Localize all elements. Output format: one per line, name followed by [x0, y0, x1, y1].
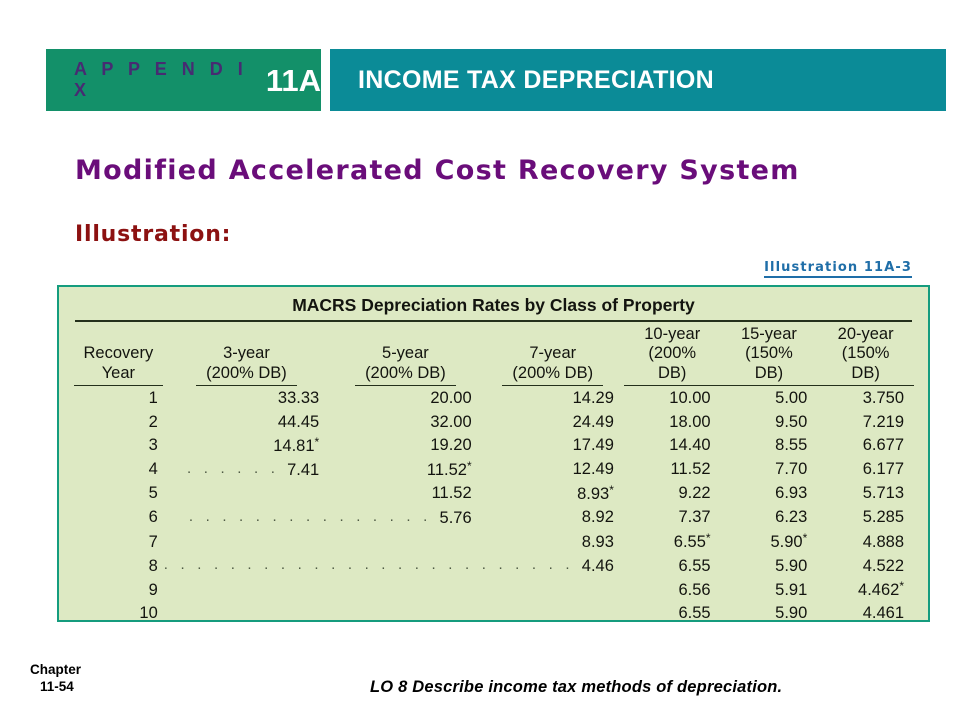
- cell-y20: 7.219: [817, 411, 914, 434]
- header-banner: A P P E N D I X 11A INCOME TAX DEPRECIAT…: [46, 49, 946, 111]
- cell-y3: 44.45: [164, 411, 329, 434]
- cell-y3: 14.81*: [164, 434, 329, 458]
- header-line1: 5-year: [382, 344, 429, 362]
- cell-y10: 14.40: [624, 434, 721, 458]
- cell-y7: 12.49: [482, 458, 624, 482]
- table-header-row: Recovery Year 3-year (200% DB) 5-year (2…: [73, 325, 914, 387]
- header-line2: (200% DB): [512, 364, 593, 382]
- cell-recovery-year: 3: [73, 434, 164, 458]
- column-header-15-year: 15-year (150% DB): [721, 325, 818, 387]
- cell-y5: 32.00: [329, 411, 481, 434]
- column-header-7-year: 7-year (200% DB): [482, 325, 624, 387]
- footnote-star: *: [467, 459, 472, 473]
- cell-y10: 6.56: [624, 578, 721, 602]
- banner-title-block: INCOME TAX DEPRECIATION: [330, 49, 946, 111]
- chapter-number: 11-54: [40, 679, 81, 696]
- cell-y10: 11.52: [624, 458, 721, 482]
- cell-y15: 5.90: [721, 554, 818, 578]
- cell-y7: 14.29: [482, 387, 624, 410]
- cell-y20: 6.177: [817, 458, 914, 482]
- leader-dots: . . . . . . . . . . . . . . . . . . . . …: [164, 555, 574, 574]
- illustration-label: Illustration 11A-3: [764, 260, 912, 278]
- page-title: Modified Accelerated Cost Recovery Syste…: [75, 155, 800, 186]
- column-header-3-year: 3-year (200% DB): [164, 325, 329, 387]
- header-line1: Recovery: [84, 344, 154, 362]
- footnote-star: *: [315, 435, 320, 449]
- column-header-10-year: 10-year (200% DB): [624, 325, 721, 387]
- cell-y10: 6.55: [624, 554, 721, 578]
- cell-leader-y5: . . . . . . . . . . . . . . .5.76: [164, 506, 482, 530]
- macrs-rates-table: Recovery Year 3-year (200% DB) 5-year (2…: [73, 325, 914, 626]
- cell-recovery-year: 9: [73, 578, 164, 602]
- cell-y7: [482, 602, 624, 625]
- cell-recovery-year: 8: [73, 554, 164, 578]
- footnote-star: *: [803, 531, 808, 545]
- cell-y15: 5.90*: [721, 530, 818, 554]
- header-line1: 3-year: [223, 344, 270, 362]
- cell-y5: 19.20: [329, 434, 481, 458]
- header-line2: Year: [102, 364, 135, 382]
- cell-y15: 8.55: [721, 434, 818, 458]
- table-row: 6. . . . . . . . . . . . . . .5.768.927.…: [73, 506, 914, 530]
- cell-y5: [329, 578, 481, 602]
- table-row: 8. . . . . . . . . . . . . . . . . . . .…: [73, 554, 914, 578]
- cell-recovery-year: 6: [73, 506, 164, 530]
- footnote-star: *: [609, 483, 614, 497]
- cell-y10: 6.55: [624, 602, 721, 625]
- footnote-star: *: [706, 531, 711, 545]
- cell-y20: 4.461: [817, 602, 914, 625]
- header-line2: (200% DB): [365, 364, 446, 382]
- footer-chapter: Chapter 11-54: [30, 662, 81, 696]
- header-line1: 10-year: [644, 325, 700, 343]
- table-row: 106.555.904.461: [73, 602, 914, 625]
- cell-y10: 7.37: [624, 506, 721, 530]
- leader-dots: . . . . . . . . . . . . . . .: [189, 507, 432, 526]
- header-line1: 20-year: [838, 325, 894, 343]
- cell-y5: 11.52: [329, 482, 481, 506]
- exhibit-title: MACRS Depreciation Rates by Class of Pro…: [73, 295, 914, 320]
- cell-y20: 5.713: [817, 482, 914, 506]
- cell-y15: 5.00: [721, 387, 818, 410]
- table-row: 511.528.93*9.226.935.713: [73, 482, 914, 506]
- learning-objective: LO 8 Describe income tax methods of depr…: [370, 678, 782, 697]
- header-line2: (200% DB): [206, 364, 287, 382]
- cell-y10: 10.00: [624, 387, 721, 410]
- appendix-block: A P P E N D I X 11A: [46, 49, 321, 111]
- banner-title-label: INCOME TAX DEPRECIATION: [358, 66, 714, 95]
- table-row: 96.565.914.462*: [73, 578, 914, 602]
- table-row: 78.936.55*5.90*4.888: [73, 530, 914, 554]
- header-line1: 15-year: [741, 325, 797, 343]
- cell-y10: 6.55*: [624, 530, 721, 554]
- cell-recovery-year: 7: [73, 530, 164, 554]
- leader-dots: . . . . . .: [187, 459, 279, 478]
- cell-y20: 3.750: [817, 387, 914, 410]
- cell-y15: 5.90: [721, 602, 818, 625]
- cell-y20: 4.462*: [817, 578, 914, 602]
- table-row: 4. . . . . .7.4111.52*12.4911.527.706.17…: [73, 458, 914, 482]
- cell-y7: 24.49: [482, 411, 624, 434]
- cell-y15: 6.93: [721, 482, 818, 506]
- table-row: 314.81*19.2017.4914.408.556.677: [73, 434, 914, 458]
- table-body: 133.3320.0014.2910.005.003.750244.4532.0…: [73, 387, 914, 625]
- cell-y3: [164, 578, 329, 602]
- cell-y20: 4.888: [817, 530, 914, 554]
- cell-y7: 17.49: [482, 434, 624, 458]
- cell-y3: [164, 602, 329, 625]
- cell-y7: [482, 578, 624, 602]
- footnote-star: *: [899, 579, 904, 593]
- cell-y7: 8.92: [482, 506, 624, 530]
- appendix-word-label: A P P E N D I X: [74, 59, 260, 101]
- cell-y15: 9.50: [721, 411, 818, 434]
- cell-y20: 4.522: [817, 554, 914, 578]
- cell-recovery-year: 10: [73, 602, 164, 625]
- cell-y3: [164, 482, 329, 506]
- cell-y7: 8.93*: [482, 482, 624, 506]
- header-line2: (150% DB): [745, 344, 793, 381]
- cell-recovery-year: 2: [73, 411, 164, 434]
- macrs-exhibit: MACRS Depreciation Rates by Class of Pro…: [57, 285, 930, 622]
- cell-y7: 8.93: [482, 530, 624, 554]
- cell-y20: 6.677: [817, 434, 914, 458]
- cell-y5: 11.52*: [329, 458, 481, 482]
- cell-y5: 20.00: [329, 387, 481, 410]
- header-line1: 7-year: [529, 344, 576, 362]
- appendix-number-label: 11A: [266, 65, 321, 96]
- cell-y15: 5.91: [721, 578, 818, 602]
- cell-y3: 33.33: [164, 387, 329, 410]
- cell-recovery-year: 1: [73, 387, 164, 410]
- cell-y10: 9.22: [624, 482, 721, 506]
- cell-y10: 18.00: [624, 411, 721, 434]
- chapter-label: Chapter: [30, 662, 81, 677]
- table-row: 133.3320.0014.2910.005.003.750: [73, 387, 914, 410]
- cell-y20: 5.285: [817, 506, 914, 530]
- column-header-recovery-year: Recovery Year: [73, 325, 164, 387]
- cell-recovery-year: 5: [73, 482, 164, 506]
- cell-y15: 7.70: [721, 458, 818, 482]
- column-header-20-year: 20-year (150% DB): [817, 325, 914, 387]
- cell-y15: 6.23: [721, 506, 818, 530]
- header-line2: (150% DB): [842, 344, 890, 381]
- cell-leader-y7: . . . . . . . . . . . . . . . . . . . . …: [164, 554, 624, 578]
- header-line2: (200% DB): [648, 344, 696, 381]
- sub-heading: Illustration:: [75, 222, 231, 247]
- cell-leader-y3: . . . . . .7.41: [164, 458, 329, 482]
- exhibit-title-rule: [75, 320, 912, 322]
- table-row: 244.4532.0024.4918.009.507.219: [73, 411, 914, 434]
- cell-y3: [164, 530, 329, 554]
- cell-y5: [329, 602, 481, 625]
- cell-recovery-year: 4: [73, 458, 164, 482]
- column-header-5-year: 5-year (200% DB): [329, 325, 481, 387]
- cell-y5: [329, 530, 481, 554]
